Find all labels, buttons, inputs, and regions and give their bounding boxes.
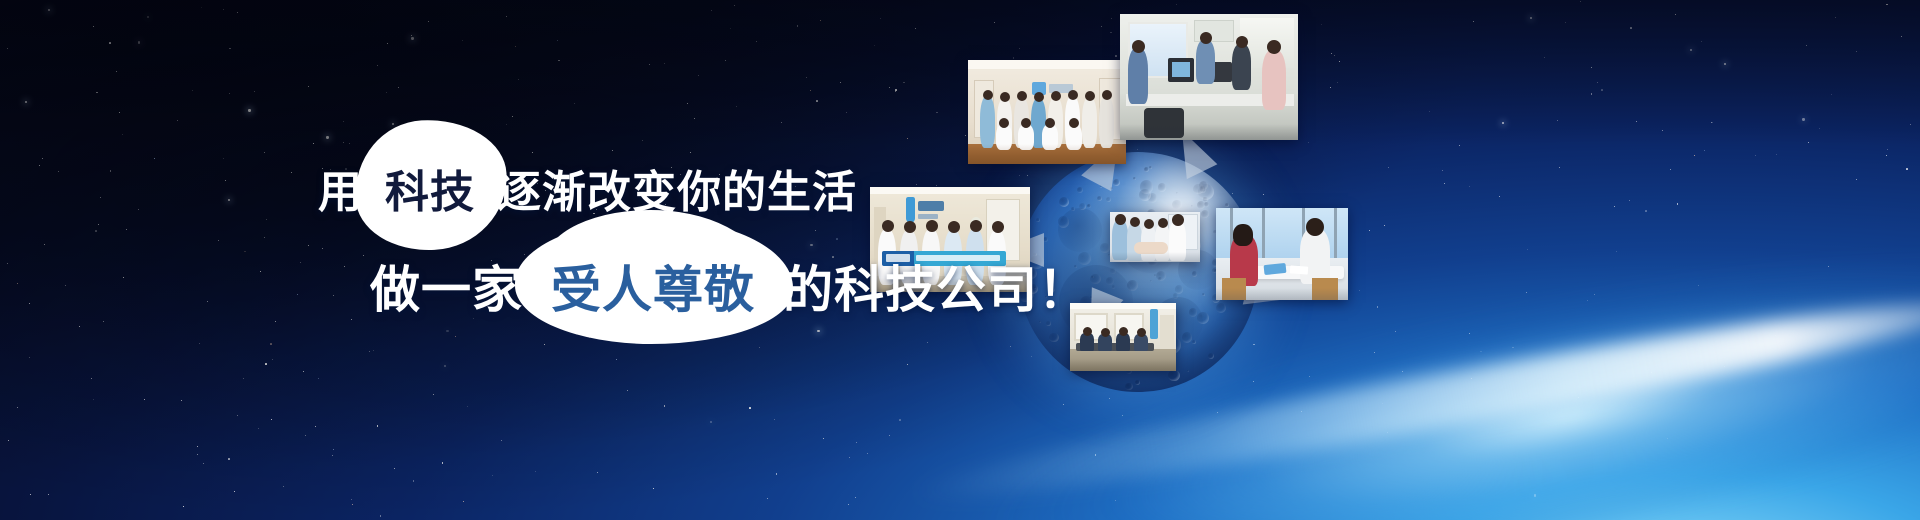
hero-banner: 用 科技 逐渐改变你的生活 做一家 受人尊敬 的科技公司！ xyxy=(0,0,1920,520)
photo-banner-ceremony-image xyxy=(870,187,1030,292)
photo-hands-together[interactable] xyxy=(1110,212,1200,262)
photo-office-desks-image xyxy=(1120,14,1298,140)
photo-team-group[interactable] xyxy=(968,60,1126,164)
photo-team-group-image xyxy=(968,60,1126,164)
photo-meeting-table-image xyxy=(1216,208,1348,300)
photo-meeting-table[interactable] xyxy=(1216,208,1348,300)
photo-training-room[interactable] xyxy=(1070,303,1176,371)
photo-office-desks[interactable] xyxy=(1120,14,1298,140)
photo-banner-ceremony[interactable] xyxy=(870,187,1030,292)
photo-hands-together-image xyxy=(1110,212,1200,262)
photo-training-room-image xyxy=(1070,303,1176,371)
